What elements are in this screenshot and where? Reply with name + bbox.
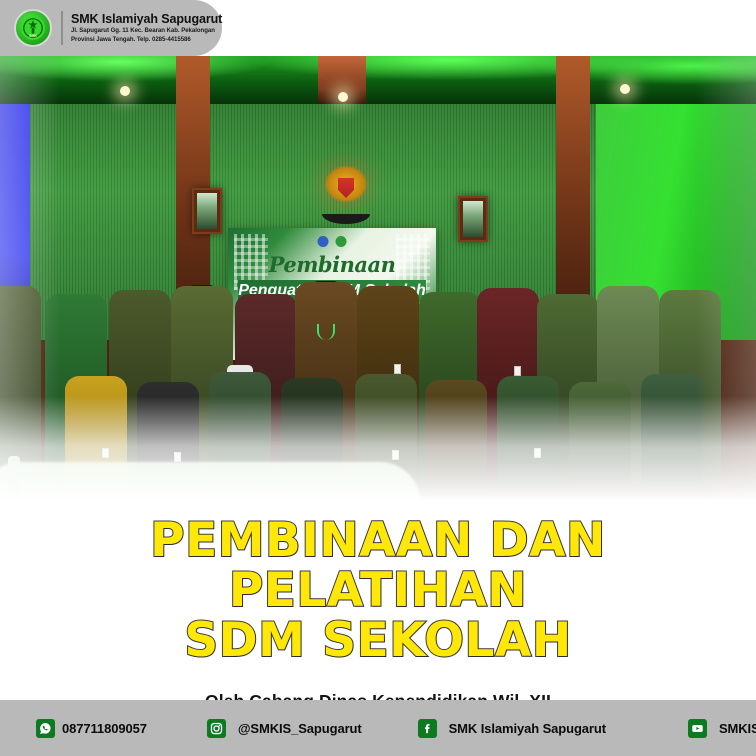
social-item-facebook[interactable]: SMK Islamiyah Sapugarut — [418, 719, 606, 738]
youtube-icon — [688, 719, 707, 738]
social-item-youtube[interactable]: SMKIS_Chanel — [688, 719, 756, 738]
youtube-label: SMKIS_Chanel — [719, 721, 756, 736]
poster-title-line2: SDM SEKOLAH — [0, 616, 756, 666]
poster-canvas: Pembinaan Penguatan SDM Sekolah Dalam Im… — [0, 0, 756, 756]
title-block: PEMBINAAN DAN PELATIHAN SDM SEKOLAH Oleh… — [0, 516, 756, 712]
school-identity: SMK Islamiyah Sapugarut Jl. Sapugarut Gg… — [71, 12, 222, 45]
social-media-bar: 087711809057 @SMKIS_Sapugarut SMK Islami… — [0, 700, 756, 756]
school-emblem-icon: SMK — [14, 9, 52, 47]
facebook-label: SMK Islamiyah Sapugarut — [449, 721, 606, 736]
event-photo: Pembinaan Penguatan SDM Sekolah Dalam Im… — [0, 56, 756, 516]
school-header-bar: SMK SMK Islamiyah Sapugarut Jl. Sapugaru… — [0, 0, 222, 56]
svg-text:SMK: SMK — [29, 34, 37, 38]
school-address-line1: Jl. Sapugarut Gg. 11 Kec. Bearan Kab. Pe… — [71, 26, 214, 35]
header-divider — [61, 11, 63, 45]
school-address-line2: Provinsi Jawa Tengah. Telp. 0285-4415586 — [71, 35, 214, 44]
poster-title-line1: PEMBINAAN DAN PELATIHAN — [0, 516, 756, 616]
social-item-whatsapp[interactable]: 087711809057 — [36, 719, 147, 738]
photo-fade-bottom — [0, 396, 756, 516]
instagram-label: @SMKIS_Sapugarut — [238, 721, 362, 736]
instagram-icon — [207, 719, 226, 738]
facebook-icon — [418, 719, 437, 738]
school-name: SMK Islamiyah Sapugarut — [71, 12, 214, 26]
whatsapp-icon — [36, 719, 55, 738]
social-item-instagram[interactable]: @SMKIS_Sapugarut — [207, 719, 362, 738]
whatsapp-label: 087711809057 — [62, 721, 147, 736]
poster-title: PEMBINAAN DAN PELATIHAN SDM SEKOLAH — [0, 516, 756, 665]
